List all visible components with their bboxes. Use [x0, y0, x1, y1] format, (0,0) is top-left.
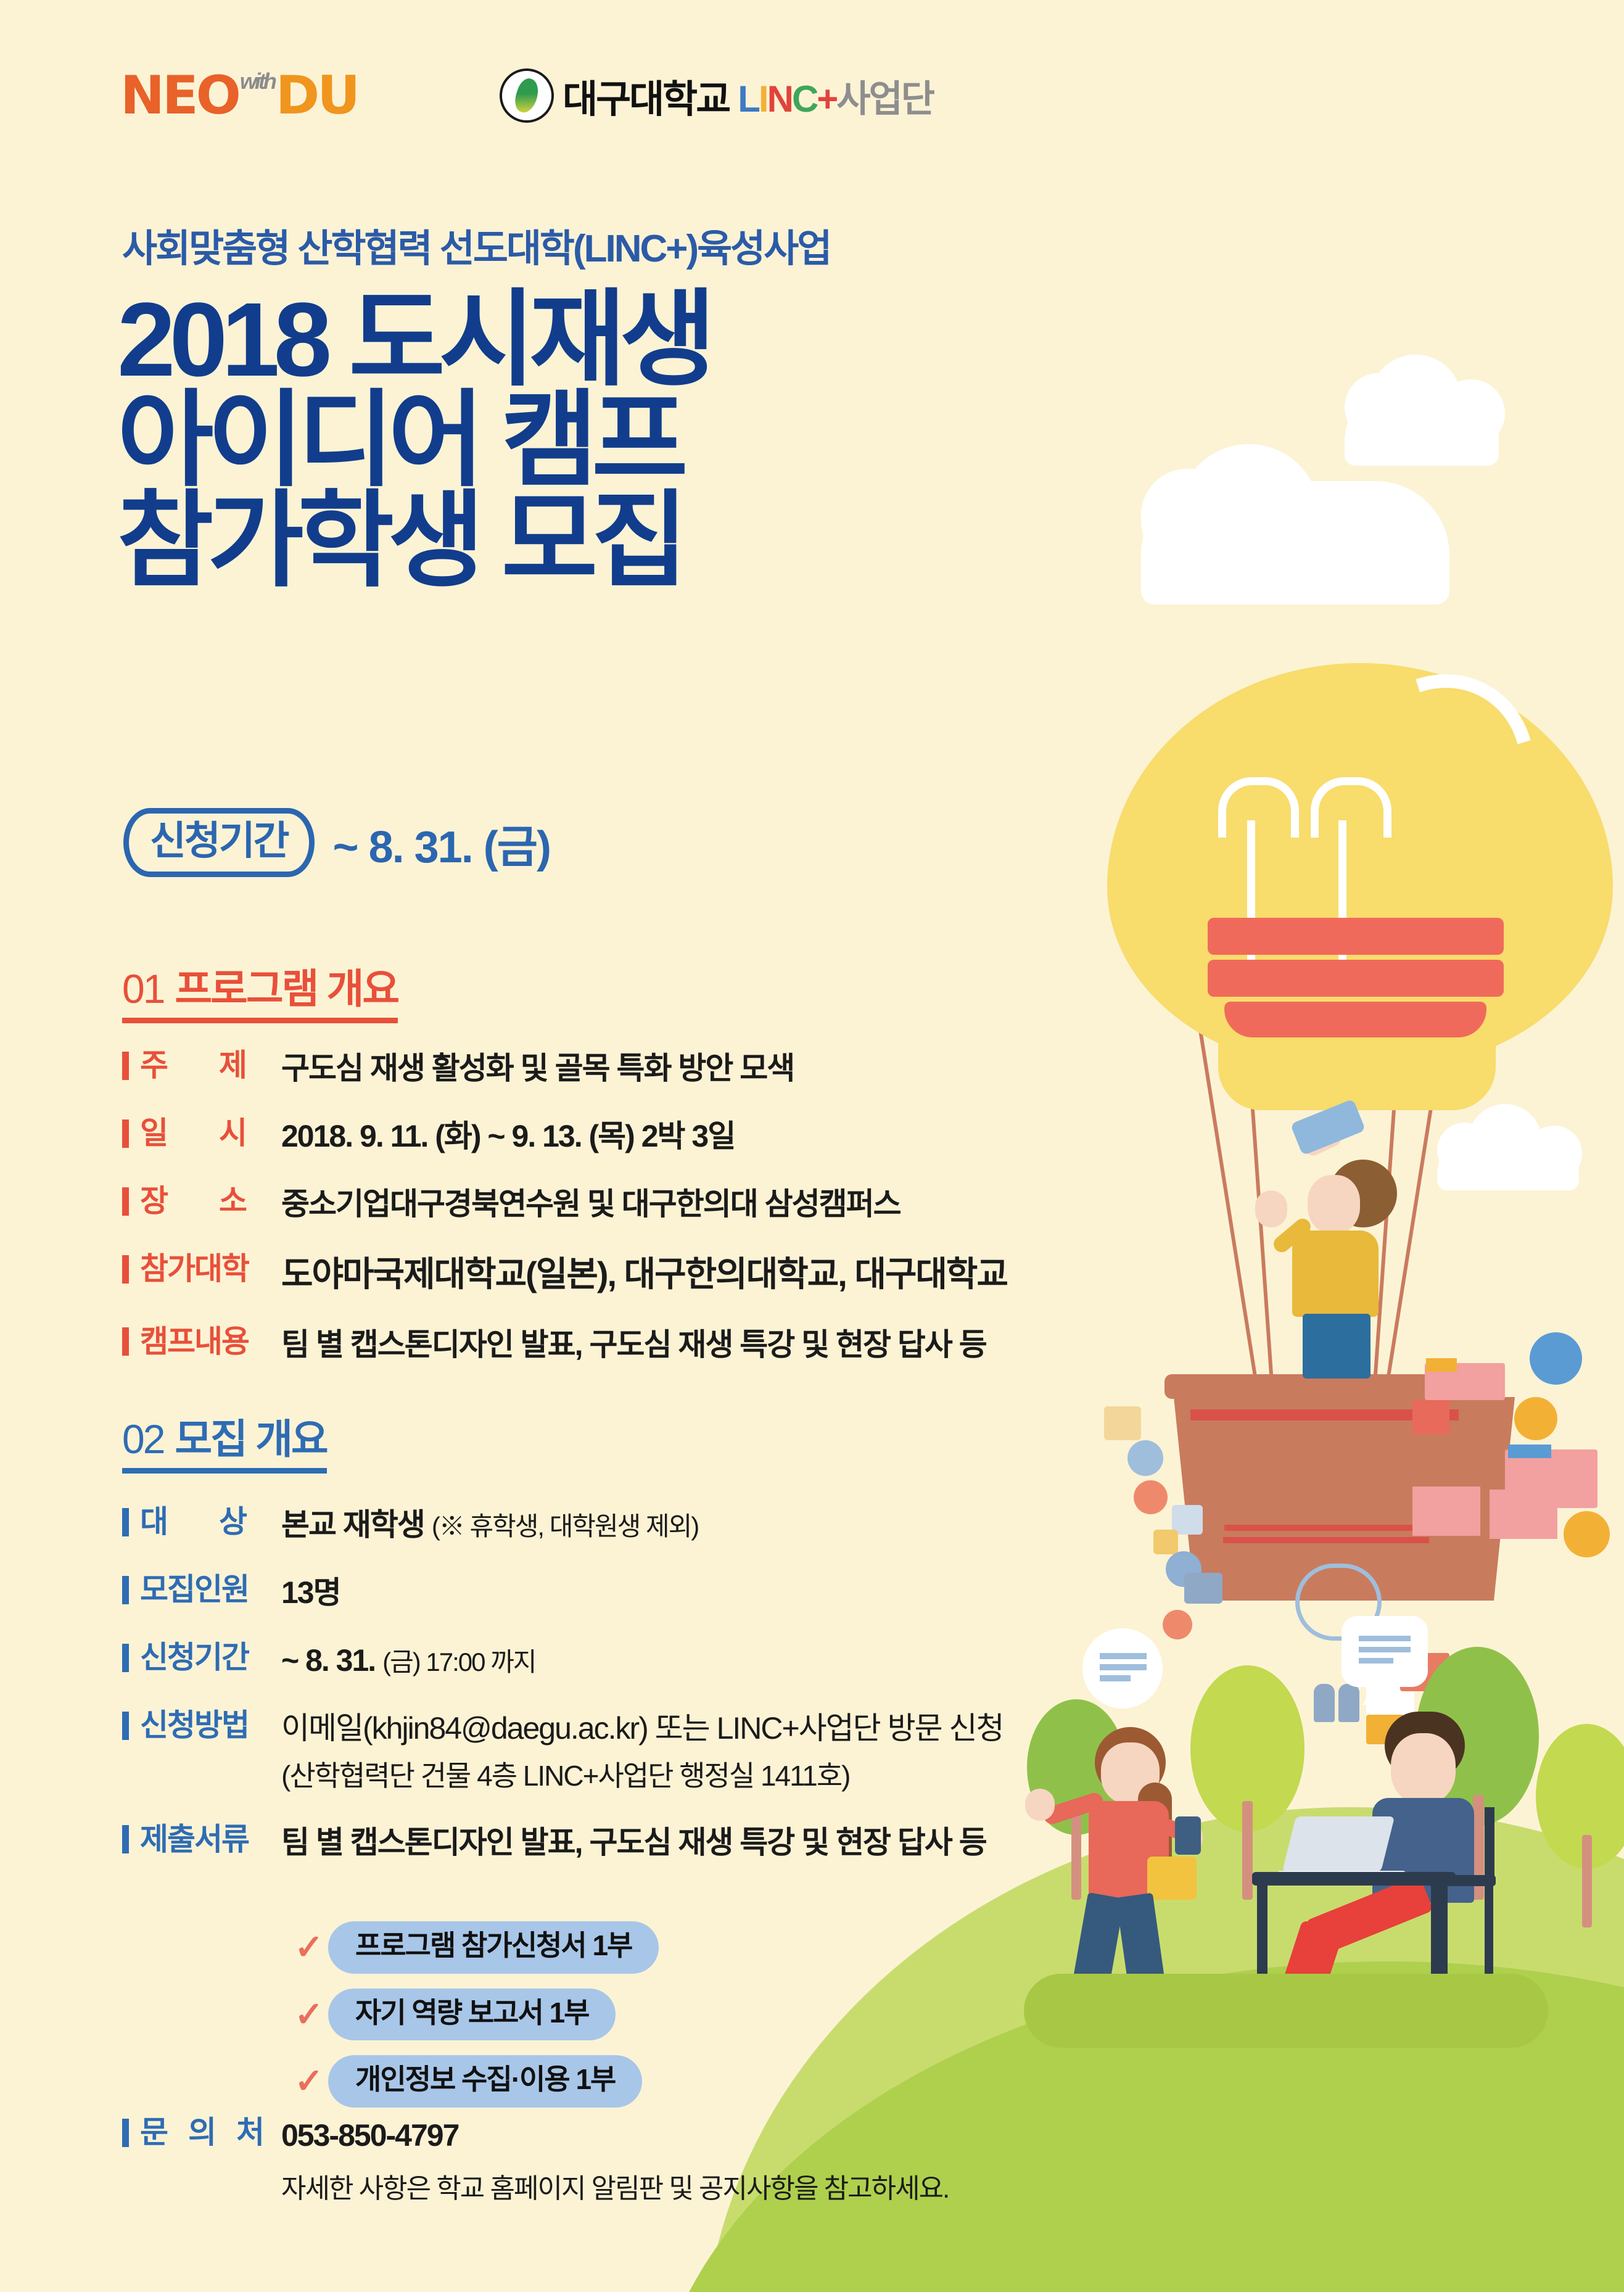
contact-phone: 053-850-4797 [281, 2116, 458, 2155]
neo-with-du-logo: NEO with DU [120, 65, 358, 126]
row-value-method: 이메일(khjin84@daegu.ac.kr) 또는 LINC+사업단 방문 … [281, 1709, 1003, 1794]
row-value-quota: 13명 [281, 1573, 340, 1612]
application-period-badge: 신청기간 [123, 808, 315, 877]
row-label-method: 신청방법 [122, 1709, 281, 1742]
list-item: ✓ 프로그램 참가신청서 1부 [290, 1921, 659, 1974]
recruit-detail-rows: 대상 본교 재학생 (※ 휴학생, 대학원생 제외) 모집인원 13명 신청기간 [122, 1505, 1003, 1890]
section-heading-recruit: 02모집 개요 [122, 1419, 327, 1474]
check-icon: ✓ [290, 2064, 328, 2098]
detail-row: 주제 구도심 재생 활성화 및 골목 특화 방안 모색 [122, 1049, 1007, 1088]
detail-row: 신청기간 ~ 8. 31. (금) 17:00 까지 [122, 1641, 1003, 1680]
label-tick-icon [122, 1187, 129, 1216]
label-tick-icon [122, 1255, 129, 1284]
label-tick-icon [122, 1825, 129, 1853]
detail-row: 일시 2018. 9. 11. (화) ~ 9. 13. (목) 2박 3일 [122, 1116, 1007, 1156]
row-label-quota: 모집인원 [122, 1573, 281, 1607]
title-line-1: 2018 도시재생 [117, 290, 710, 390]
row-label-venue: 장소 [122, 1184, 281, 1218]
section-title: 프로그램 개요 [175, 966, 398, 1012]
row-value-universities: 도야마국제대학교(일본), 대구한의대학교, 대구대학교 [281, 1252, 1007, 1296]
label-tick-icon [122, 2119, 129, 2147]
check-icon: ✓ [290, 1997, 328, 2032]
label-tick-icon [122, 1576, 129, 1604]
check-icon: ✓ [290, 1930, 328, 1964]
row-value-camp-content: 팀 별 캡스톤디자인 발표, 구도심 재생 특강 및 현장 답사 등 [281, 1325, 986, 1364]
application-period: 신청기간 ~ 8. 31. (금) [123, 808, 550, 877]
detail-row: 모집인원 13명 [122, 1573, 1003, 1612]
checklist-pill: 프로그램 참가신청서 1부 [328, 1921, 659, 1974]
linc-suffix: 사업단 [836, 78, 933, 120]
neo-logo-with: with [240, 68, 274, 94]
checklist-pill: 개인정보 수집·이용 1부 [328, 2055, 642, 2108]
label-tick-icon [122, 1712, 129, 1740]
poster-canvas: NEO with DU 대구대학교 LINC+사업단 사회맞춤형 산학협력 선도… [0, 0, 1624, 2292]
row-value-date: 2018. 9. 11. (화) ~ 9. 13. (목) 2박 3일 [281, 1116, 735, 1156]
daegu-university-logo: 대구대학교 LINC+사업단 [500, 68, 933, 123]
daegu-university-name: 대구대학교 [563, 68, 729, 123]
detail-row: 제출서류 팀 별 캡스톤디자인 발표, 구도심 재생 특강 및 현장 답사 등 [122, 1823, 1003, 1862]
neo-logo-du: DU [276, 65, 358, 126]
detail-row: 대상 본교 재학생 (※ 휴학생, 대학원생 제외) [122, 1505, 1003, 1544]
row-label-target: 대상 [122, 1505, 281, 1539]
neo-logo-text: NEO [120, 65, 239, 126]
row-value-target: 본교 재학생 (※ 휴학생, 대학원생 제외) [281, 1505, 698, 1544]
detail-row: 캠프내용 팀 별 캡스톤디자인 발표, 구도심 재생 특강 및 현장 답사 등 [122, 1325, 1007, 1364]
section-title: 모집 개요 [175, 1416, 326, 1462]
section-heading-program: 01프로그램 개요 [122, 968, 398, 1023]
checklist-pill: 자기 역량 보고서 1부 [328, 1989, 616, 2041]
title-line-2: 아이디어 캠프 [117, 390, 710, 491]
page-title: 2018 도시재생 아이디어 캠프 참가학생 모집 [117, 290, 710, 592]
logo-row: NEO with DU 대구대학교 LINC+사업단 [120, 65, 933, 126]
document-checklist: ✓ 프로그램 참가신청서 1부 ✓ 자기 역량 보고서 1부 ✓ 개인정보 수집… [290, 1921, 659, 2122]
row-label-universities: 참가대학 [122, 1252, 281, 1286]
row-value-venue: 중소기업대구경북연수원 및 대구한의대 삼성캠퍼스 [281, 1184, 901, 1224]
contact-row: 문의처 053-850-4797 [122, 2116, 949, 2155]
row-label-contact: 문의처 [122, 2116, 281, 2150]
section-number: 02 [122, 1416, 163, 1462]
section-number: 01 [122, 966, 163, 1012]
title-line-3: 참가학생 모집 [117, 491, 710, 592]
label-tick-icon [122, 1052, 129, 1080]
kicker-text: 사회맞춤형 산학협력 선도대학(LINC+)육성사업 [122, 217, 830, 273]
detail-row: 장소 중소기업대구경북연수원 및 대구한의대 삼성캠퍼스 [122, 1184, 1007, 1224]
linc-plus-logo: LINC+사업단 [738, 69, 933, 123]
label-tick-icon [122, 1327, 129, 1356]
contact-block: 문의처 053-850-4797 자세한 사항은 학교 홈페이지 알림판 및 공… [122, 2116, 949, 2206]
row-value-period: ~ 8. 31. (금) 17:00 까지 [281, 1641, 535, 1680]
label-tick-icon [122, 1119, 129, 1148]
row-label-period: 신청기간 [122, 1641, 281, 1675]
row-label-date: 일시 [122, 1116, 281, 1150]
list-item: ✓ 자기 역량 보고서 1부 [290, 1989, 659, 2041]
application-period-value: ~ 8. 31. (금) [333, 810, 550, 875]
contact-note: 자세한 사항은 학교 홈페이지 알림판 및 공지사항을 참고하세요. [281, 2166, 949, 2206]
detail-row: 신청방법 이메일(khjin84@daegu.ac.kr) 또는 LINC+사업… [122, 1709, 1003, 1794]
row-value-documents: 팀 별 캡스톤디자인 발표, 구도심 재생 특강 및 현장 답사 등 [281, 1823, 986, 1862]
row-label-subject: 주제 [122, 1049, 281, 1082]
row-label-camp-content: 캠프내용 [122, 1325, 281, 1359]
row-label-documents: 제출서류 [122, 1823, 281, 1857]
label-tick-icon [122, 1644, 129, 1672]
label-tick-icon [122, 1508, 129, 1536]
row-value-subject: 구도심 재생 활성화 및 골목 특화 방안 모색 [281, 1049, 794, 1088]
detail-row: 참가대학 도야마국제대학교(일본), 대구한의대학교, 대구대학교 [122, 1252, 1007, 1296]
list-item: ✓ 개인정보 수집·이용 1부 [290, 2055, 659, 2108]
program-detail-rows: 주제 구도심 재생 활성화 및 골목 특화 방안 모색 일시 2018. 9. … [122, 1049, 1007, 1393]
daegu-university-seal-icon [500, 68, 554, 123]
